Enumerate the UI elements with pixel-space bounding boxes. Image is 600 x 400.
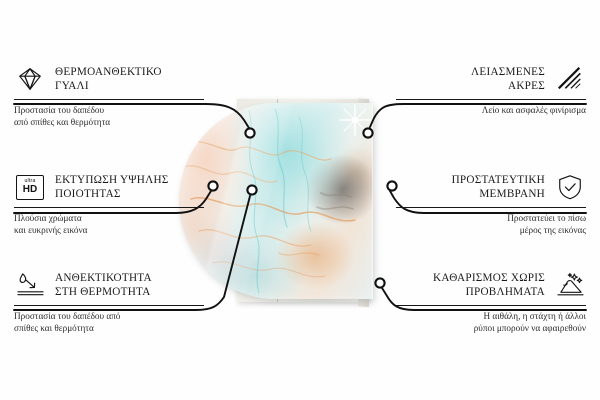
feature-title: ΛΕΙΑΣΜΕΝΕΣ ΑΚΡΕΣ <box>471 65 545 94</box>
feature-title: ΘΕΡΜΟΑΝΘΕΚΤΙΚΟ ΓΥΑΛΙ <box>55 65 162 94</box>
feature-heat-resistant-glass: ΘΕΡΜΟΑΝΘΕΚΤΙΚΟ ΓΥΑΛΙ Προστασία του δαπέδ… <box>14 62 204 128</box>
feature-header: ΛΕΙΑΣΜΕΝΕΣ ΑΚΡΕΣ <box>396 62 586 96</box>
feature-divider <box>396 207 586 208</box>
diagonal-stripes-icon <box>554 64 586 94</box>
feature-description: Προστατεύει το πίσω μέρος της εικόνας <box>396 213 586 236</box>
feature-smoothed-edges: ΛΕΙΑΣΜΕΝΕΣ ΑΚΡΕΣ Λείο και ασφαλές φινίρι… <box>396 62 586 117</box>
feature-divider <box>14 305 204 306</box>
feature-easy-cleaning: ΚΑΘΑΡΙΣΜΟΣ ΧΩΡΙΣ ΠΡΟΒΛΗΜΑΤΑ Η αιθάλη, η … <box>396 268 586 334</box>
feature-high-quality-print: ultra HD ΕΚΤΥΠΩΣΗ ΥΨΗΛΗΣ ΠΟΙΟΤΗΤΑΣ Πλούσ… <box>14 170 204 236</box>
feature-title: ΠΡΟΣΤΑΤΕΥΤΙΚΗ ΜΕΜΒΡΑΝΗ <box>452 173 545 202</box>
diamond-icon <box>14 64 46 94</box>
feature-description: Προστασία του δαπέδου από σπίθες και θερ… <box>14 311 204 334</box>
flame-deflect-icon <box>14 270 46 300</box>
feature-description: Προστασία του δαπέδου από σπίθες και θερ… <box>14 105 204 128</box>
feature-description: Λείο και ασφαλές φινίρισμα <box>396 105 586 117</box>
ultra-hd-badge-icon: ultra HD <box>14 172 46 202</box>
ultra-hd-bottom-label: HD <box>23 185 37 195</box>
feature-header: ΘΕΡΜΟΑΝΘΕΚΤΙΚΟ ΓΥΑΛΙ <box>14 62 204 96</box>
product-illustration <box>175 95 425 315</box>
feature-header: ΑΝΘΕΚΤΙΚΟΤΗΤΑ ΣΤΗ ΘΕΡΜΟΤΗΤΑ <box>14 268 204 302</box>
feature-description: Πλούσια χρώματα και ευκρινής εικόνα <box>14 213 204 236</box>
shield-check-icon <box>554 172 586 202</box>
infographic-canvas: ΘΕΡΜΟΑΝΘΕΚΤΙΚΟ ΓΥΑΛΙ Προστασία του δαπέδ… <box>0 0 600 400</box>
feature-divider <box>396 305 586 306</box>
marble-veins <box>179 103 373 299</box>
feature-divider <box>14 99 204 100</box>
feature-header: ultra HD ΕΚΤΥΠΩΣΗ ΥΨΗΛΗΣ ΠΟΙΟΤΗΤΑΣ <box>14 170 204 204</box>
feature-title: ΚΑΘΑΡΙΣΜΟΣ ΧΩΡΙΣ ΠΡΟΒΛΗΜΑΤΑ <box>433 271 545 300</box>
feature-protective-membrane: ΠΡΟΣΤΑΤΕΥΤΙΚΗ ΜΕΜΒΡΑΝΗ Προστατεύει το πί… <box>396 170 586 236</box>
feature-divider <box>396 99 586 100</box>
sparkle-cloth-icon <box>554 270 586 300</box>
feature-title: ΕΚΤΥΠΩΣΗ ΥΨΗΛΗΣ ΠΟΙΟΤΗΤΑΣ <box>55 173 169 202</box>
feature-title: ΑΝΘΕΚΤΙΚΟΤΗΤΑ ΣΤΗ ΘΕΡΜΟΤΗΤΑ <box>55 271 152 300</box>
feature-description: Η αιθάλη, η στάχτη ή άλλοι ρύποι μπορούν… <box>396 311 586 334</box>
feature-heat-durability: ΑΝΘΕΚΤΙΚΟΤΗΤΑ ΣΤΗ ΘΕΡΜΟΤΗΤΑ Προστασία το… <box>14 268 204 334</box>
feature-header: ΚΑΘΑΡΙΣΜΟΣ ΧΩΡΙΣ ΠΡΟΒΛΗΜΑΤΑ <box>396 268 586 302</box>
glass-panel <box>179 103 373 299</box>
feature-header: ΠΡΟΣΤΑΤΕΥΤΙΚΗ ΜΕΜΒΡΑΝΗ <box>396 170 586 204</box>
feature-divider <box>14 207 204 208</box>
